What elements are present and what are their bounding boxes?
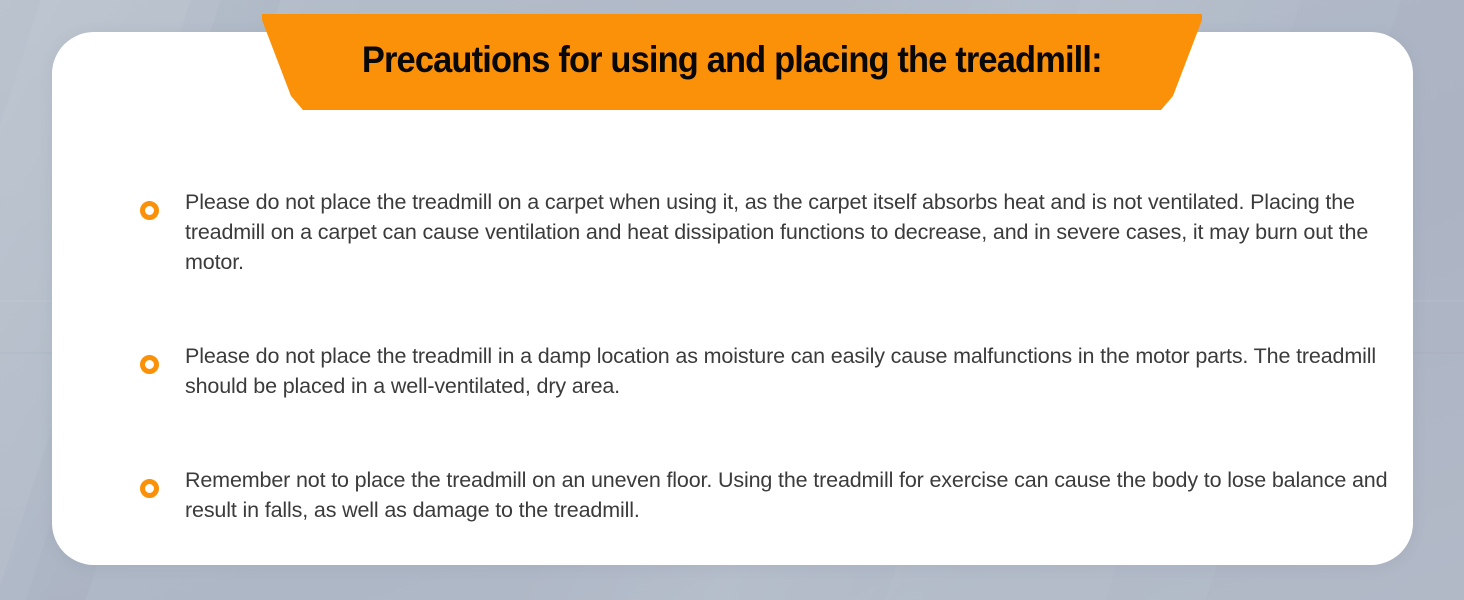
precaution-text: Please do not place the treadmill in a d… [185, 341, 1425, 401]
list-item: Please do not place the treadmill in a d… [140, 341, 1440, 401]
ring-bullet-icon [140, 355, 159, 374]
precaution-text: Remember not to place the treadmill on a… [185, 465, 1425, 525]
ring-bullet-icon [140, 201, 159, 220]
list-item: Remember not to place the treadmill on a… [140, 465, 1440, 525]
ribbon-banner-shape [262, 14, 1202, 110]
ring-bullet-icon [140, 479, 159, 498]
precaution-text: Please do not place the treadmill on a c… [185, 187, 1425, 277]
precautions-list: Please do not place the treadmill on a c… [140, 187, 1440, 525]
list-item: Please do not place the treadmill on a c… [140, 187, 1440, 277]
precautions-card: Please do not place the treadmill on a c… [52, 32, 1413, 565]
